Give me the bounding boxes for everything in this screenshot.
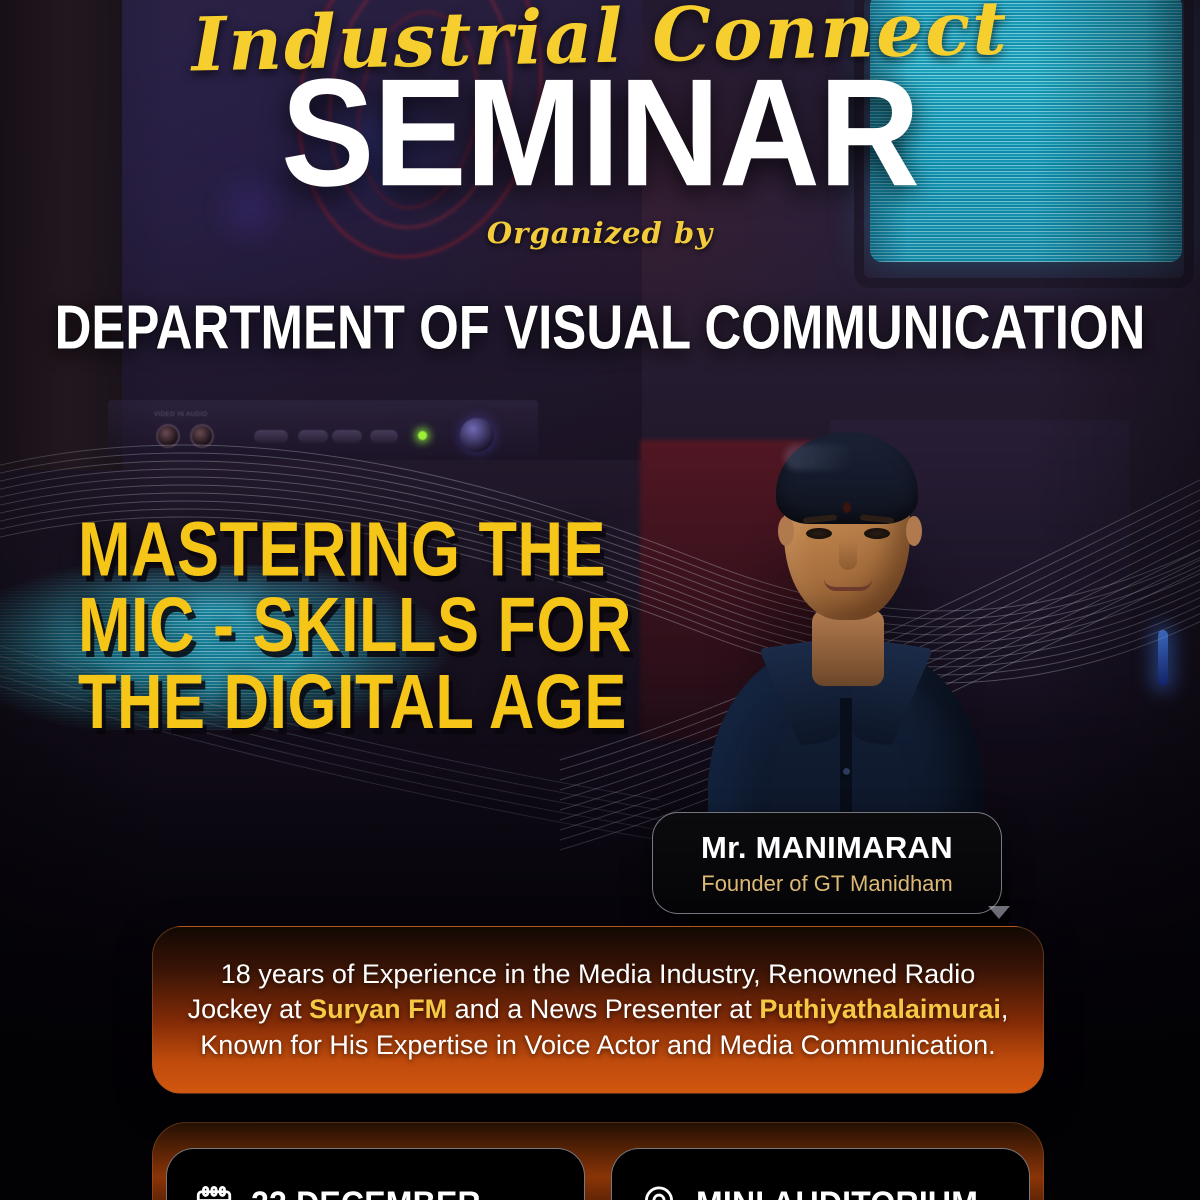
page-title: SEMINAR: [0, 60, 1200, 205]
portrait-bindi: [843, 502, 851, 513]
details-row: 22 DECEMBER MINI AUDITORIUM: [152, 1148, 1044, 1200]
portrait-ear: [906, 516, 922, 546]
calendar-icon: [193, 1183, 235, 1200]
portrait-ear: [778, 516, 794, 546]
speaker-name-card: Mr. MANIMARAN Founder of GT Manidham: [652, 812, 1002, 914]
speaker-bio-card: 18 years of Experience in the Media Indu…: [152, 926, 1044, 1094]
location-pin-icon: [638, 1183, 680, 1200]
portrait-eye: [806, 528, 832, 539]
date-chip[interactable]: 22 DECEMBER: [166, 1148, 585, 1200]
seminar-headline: MASTERING THE MIC - SKILLS FOR THE DIGIT…: [78, 512, 632, 740]
card-notch-icon: [988, 906, 1010, 919]
portrait-nose: [839, 540, 857, 570]
speaker-bio-text: 18 years of Experience in the Media Indu…: [153, 957, 1043, 1064]
speaker-name: Mr. MANIMARAN: [701, 830, 953, 866]
department-name: DEPARTMENT OF VISUAL COMMUNICATION: [0, 291, 1200, 364]
event-venue: MINI AUDITORIUM: [696, 1184, 978, 1200]
portrait-mouth: [824, 579, 872, 591]
venue-chip[interactable]: MINI AUDITORIUM: [611, 1148, 1030, 1200]
speaker-role: Founder of GT Manidham: [701, 871, 953, 897]
portrait-eye: [864, 528, 890, 539]
portrait-neck: [812, 610, 884, 686]
event-date: 22 DECEMBER: [251, 1184, 481, 1200]
organized-by-label: Organized by: [0, 216, 1200, 250]
portrait-shirt-button: [843, 768, 850, 775]
event-poster: VIDEO IN AUDIO: [0, 0, 1200, 1200]
